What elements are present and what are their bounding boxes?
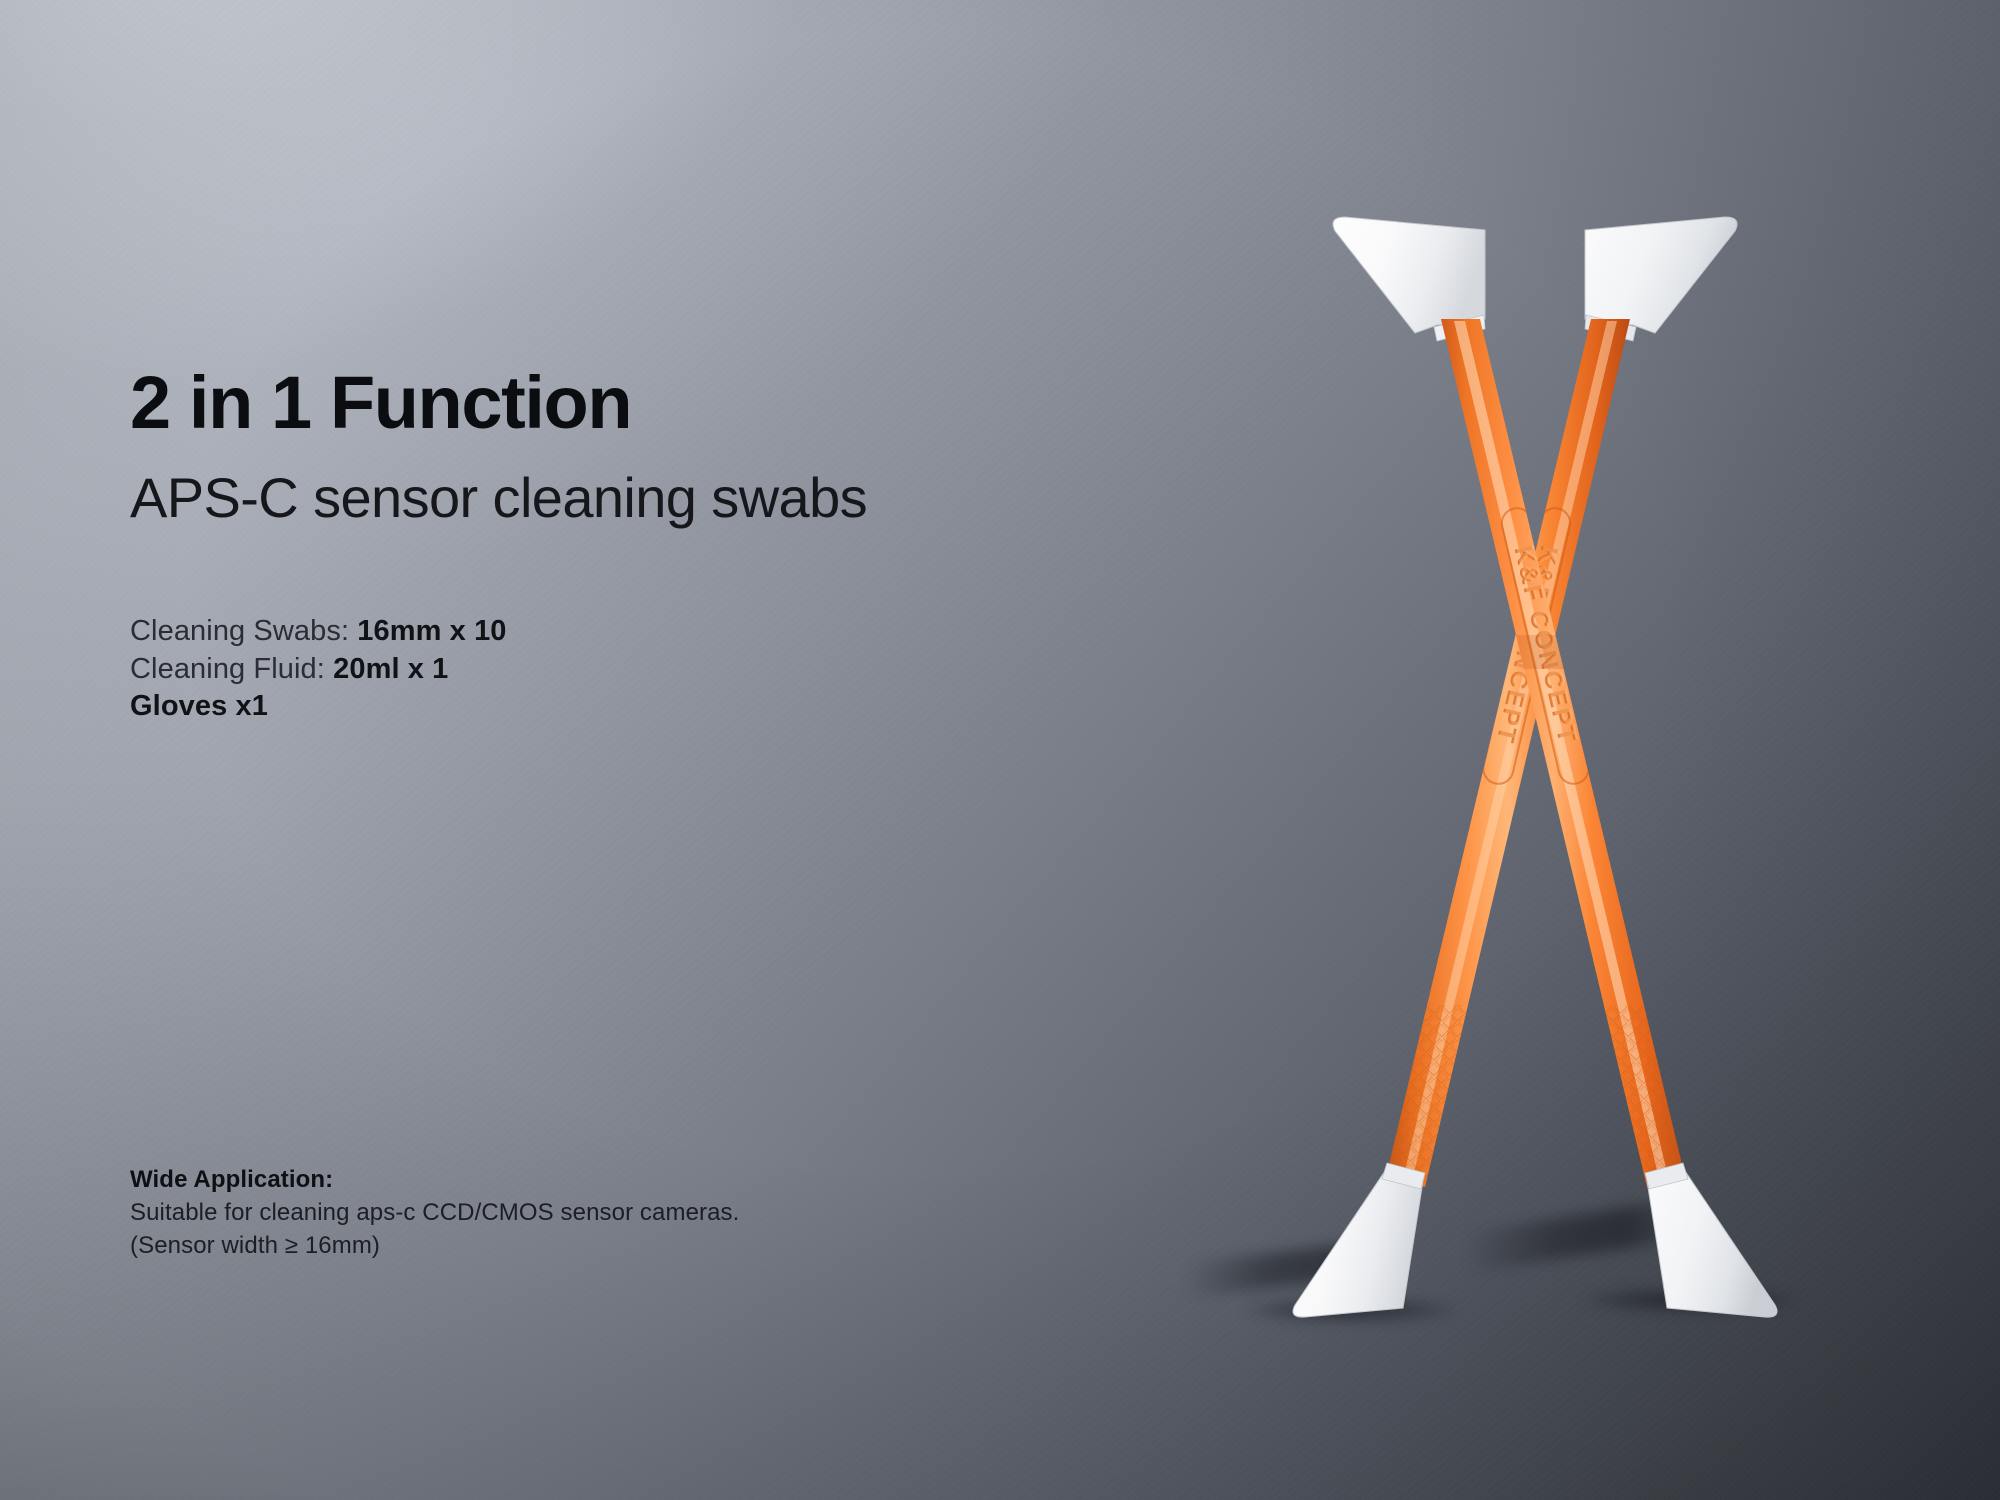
spec-label: Cleaning Swabs: <box>130 615 357 647</box>
wide-application-line-2: (Sensor width ≥ 16mm) <box>130 1229 739 1262</box>
wide-application-title: Wide Application: <box>130 1163 739 1196</box>
swab-back: K&F CONCEPT K&F CONCEPT <box>1255 215 1815 1345</box>
spec-row: Gloves x1 <box>130 688 507 726</box>
swab-pad-bottom-left <box>1293 1163 1425 1317</box>
wide-application-block: Wide Application: Suitable for cleaning … <box>130 1163 739 1262</box>
product-marketing-image: 2 in 1 Function APS-C sensor cleaning sw… <box>0 0 2000 1500</box>
spec-row: Cleaning Fluid: 20ml x 1 <box>130 651 507 689</box>
spec-value: 20ml x 1 <box>333 653 448 685</box>
spec-list: Cleaning Swabs: 16mm x 10 Cleaning Fluid… <box>130 613 507 726</box>
spec-row: Cleaning Swabs: 16mm x 10 <box>130 613 507 651</box>
spec-value: 16mm x 10 <box>357 615 506 647</box>
spec-label: Cleaning Fluid: <box>130 653 333 685</box>
page-title: 2 in 1 Function <box>130 366 631 440</box>
spec-value: Gloves x1 <box>130 690 268 722</box>
swab-pad-bottom-right <box>1645 1163 1777 1317</box>
wide-application-line-1: Suitable for cleaning aps-c CCD/CMOS sen… <box>130 1196 739 1229</box>
swabs-illustration: K&F CONCEPT K&F CONCEPT <box>1255 215 1815 1345</box>
page-subtitle: APS-C sensor cleaning swabs <box>130 470 867 526</box>
swab-front: K&F CONCEPT K&F CONCEPT <box>1255 215 1815 1345</box>
product-photo-swabs: K&F CONCEPT K&F CONCEPT <box>1255 215 1815 1345</box>
